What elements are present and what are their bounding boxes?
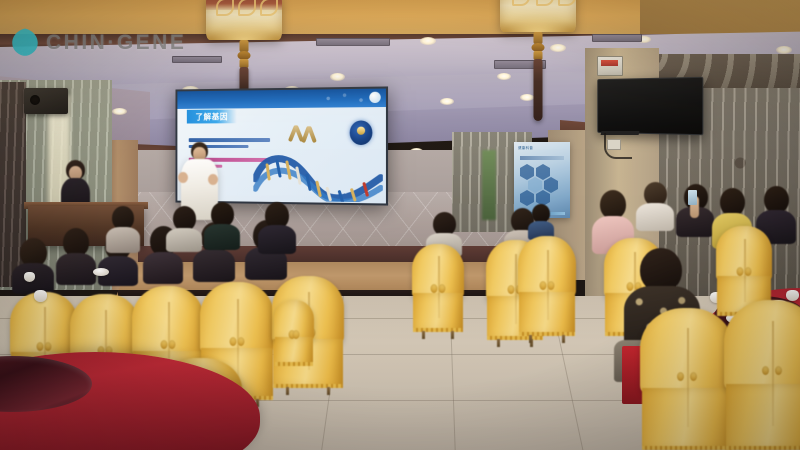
banquet-chair <box>274 300 314 366</box>
downlight <box>420 37 436 45</box>
banquet-chair <box>640 308 734 450</box>
rollup-hex <box>528 177 542 193</box>
audience-torso <box>106 227 140 253</box>
audience-person <box>166 206 202 248</box>
downlight <box>776 46 792 54</box>
pendant-lamp-2-group <box>500 0 576 32</box>
wall-outlet <box>607 139 621 150</box>
chair-skirt <box>275 337 313 366</box>
audience-torso <box>143 252 183 284</box>
banquet-chair <box>518 236 576 336</box>
double-helix-graphic <box>253 149 382 202</box>
audience-person <box>106 206 140 250</box>
ginkgo-leaf-icon <box>8 26 42 60</box>
lamp-shade <box>206 0 282 40</box>
audience-person <box>56 228 96 284</box>
slide-logo-icon <box>369 92 380 103</box>
lamp-motif-icon <box>260 0 278 16</box>
audience-torso <box>56 253 96 285</box>
chair-leg <box>286 387 289 395</box>
lamp-glow <box>506 16 570 32</box>
audience-torso <box>204 224 240 250</box>
wall-control-panel <box>597 56 623 76</box>
chair-leg <box>327 387 330 395</box>
lamp-motif-icon <box>238 0 256 16</box>
rollup-hex <box>520 164 534 180</box>
watermark-text: CHIN·GENE <box>46 31 186 55</box>
lamp-motif-icon <box>512 0 530 6</box>
presenter-hand-left <box>178 172 188 183</box>
banquet-chair <box>412 244 464 332</box>
downlight <box>440 98 454 105</box>
chair-leg <box>451 331 454 339</box>
audience-torso <box>636 203 674 231</box>
chair-bow <box>431 284 446 293</box>
slide-header-bar <box>177 89 386 109</box>
audience-head <box>720 188 745 216</box>
chair-bow <box>762 366 782 378</box>
seminar-photo-scene: 了解基因 <box>0 0 800 450</box>
chair-bow <box>289 330 300 337</box>
window-greenery <box>482 150 496 220</box>
audience-head <box>764 186 789 213</box>
wall-speaker <box>24 88 68 114</box>
chair-skirt <box>726 384 800 450</box>
watermark: CHIN·GENE <box>8 26 186 60</box>
lamp-motif-icon <box>216 0 234 16</box>
rollup-subheading <box>520 156 564 160</box>
audience-head <box>600 190 626 219</box>
rollup-hex <box>536 164 550 180</box>
pendant-lamp <box>206 0 282 40</box>
rollup-heading: 健康科普 <box>518 146 533 151</box>
lamp-shade <box>500 0 576 32</box>
rollup-hex <box>544 177 558 193</box>
audience-person <box>636 182 674 230</box>
lamp-motif-icon <box>536 0 554 6</box>
ceiling-air-vent <box>316 38 390 46</box>
banquet-chair <box>724 300 800 450</box>
chair-bow <box>161 340 176 349</box>
audience-person <box>204 202 240 246</box>
audience-torso <box>258 225 296 254</box>
downlight <box>112 108 127 115</box>
chair-leg <box>497 339 500 347</box>
cell-icon <box>350 120 373 145</box>
audience-torso <box>166 228 202 252</box>
chair-bow <box>737 267 752 276</box>
audience-torso <box>193 249 235 282</box>
chair-back-cover <box>724 300 800 393</box>
audience-person <box>258 202 296 252</box>
ceiling-air-vent <box>592 34 642 42</box>
chair-leg <box>529 335 532 343</box>
wall-mounted-tv <box>597 77 703 136</box>
chair-leg <box>422 331 425 339</box>
dna-illustration <box>253 116 382 202</box>
presenter-hand-right <box>208 174 218 185</box>
audience-person <box>528 204 554 238</box>
downlight <box>330 73 345 81</box>
teacup <box>34 290 47 302</box>
chair-bow <box>540 281 555 290</box>
smartphone <box>688 190 697 205</box>
chair-leg <box>562 335 565 343</box>
chromosome-icon <box>287 125 315 143</box>
chair-bow <box>677 372 697 384</box>
chair-bow <box>230 337 245 346</box>
lamp-glow <box>212 25 276 40</box>
saucer <box>93 268 109 276</box>
audience-person <box>12 238 54 292</box>
slide-title: 了解基因 <box>187 109 237 123</box>
lamp-tassel <box>534 59 543 121</box>
teacup <box>24 272 35 282</box>
lamp-motif-icon <box>558 0 576 6</box>
chair-bow <box>37 342 52 351</box>
